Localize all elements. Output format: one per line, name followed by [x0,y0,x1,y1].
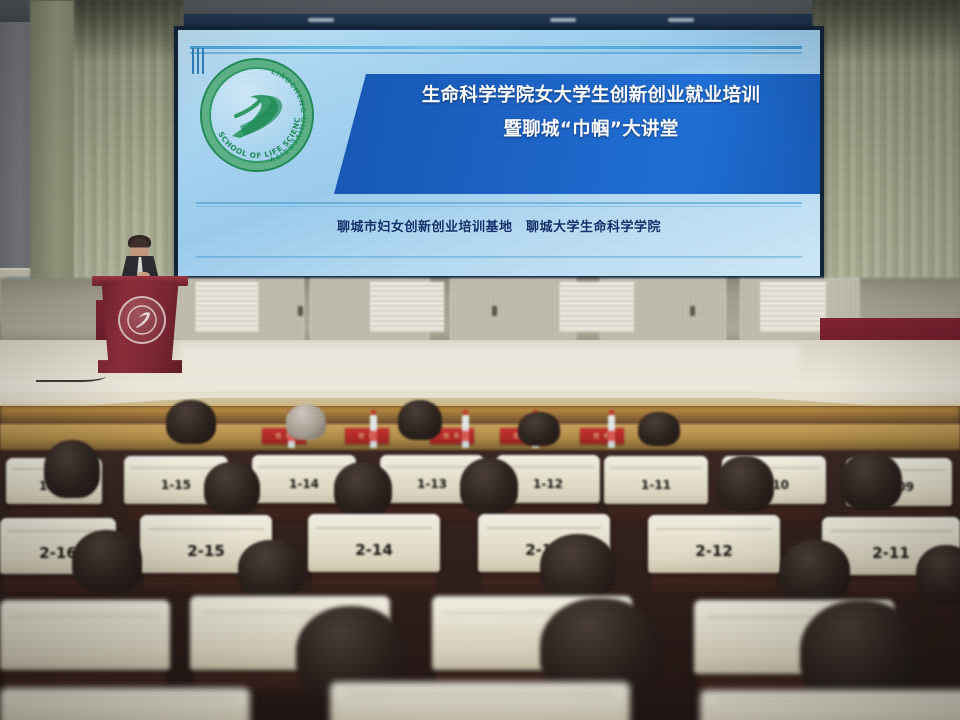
curtain-shadow [812,0,960,62]
wall-knob [492,306,497,316]
bottle-cap [609,410,614,415]
bottle-label [608,431,615,441]
slide-divider [196,202,802,204]
audience-head [780,540,850,602]
slide-divider-2 [196,206,802,207]
wall-vent [560,282,634,332]
podium-university-emblem [118,296,166,344]
audience-head [204,462,260,514]
wall-vent [196,282,258,332]
wall-vent [760,282,826,332]
presentation-slide: SCHOOL OF LIFE SCIENCES LIAOCHENG UNIVER… [178,30,820,276]
name-plate: 姓 名 [345,428,389,444]
slide-subtitle: 聊城市妇女创新创业培训基地 聊城大学生命科学学院 [196,216,802,235]
audience-head [238,540,304,598]
bottle-label [370,431,377,441]
water-bottle [462,415,469,448]
stage-floor-reflection [180,344,800,390]
ceiling-light [668,18,694,22]
audience-head [460,458,518,514]
auditorium-photo: SCHOOL OF LIFE SCIENCES LIAOCHENG UNIVER… [0,0,960,720]
audience-head [286,404,326,440]
seat-number-label: 2-12 [648,542,780,560]
name-plate-text: 姓 名 [345,431,389,440]
floor-cable [36,368,106,382]
ceiling-light [550,18,576,22]
audience-head [166,400,216,444]
podium-emblem-icon [126,304,158,336]
wall-panel [450,278,576,340]
logo-emblem-icon [220,80,294,150]
audience-head [840,452,902,510]
stage-front-lip [0,390,960,398]
audience-head [638,412,680,446]
water-bottle [608,415,615,448]
slide-top-rule [190,46,802,49]
wall-knob [690,306,695,316]
wall-vent [370,282,444,332]
slide-title-line1: 生命科学学院女大学生创新创业就业培训 [356,82,820,111]
audience-head [800,600,920,704]
audience-head [44,440,100,498]
audience-head [916,545,960,603]
slide-top-rule-2 [190,52,802,54]
audience-head [540,534,616,600]
auditorium-seat[interactable]: 2-12 [648,515,780,573]
audience-head [72,530,142,592]
slide-title-line2: 暨聊城“巾帼”大讲堂 [356,116,820,145]
water-bottle [370,415,377,448]
bottle-label [462,431,469,441]
seat-number-label: 2-14 [308,541,440,559]
name-plate-text: 姓 名 [580,431,624,440]
school-of-life-sciences-logo: SCHOOL OF LIFE SCIENCES LIAOCHENG UNIVER… [200,58,314,172]
auditorium-seat[interactable] [0,688,250,720]
wall-knob [298,306,303,316]
slide-bottom-rule [196,256,802,258]
bottle-cap [463,410,468,415]
head-table [0,424,960,450]
auditorium-seat[interactable]: 2-14 [308,514,440,572]
audience-head [398,400,442,440]
audience-head [334,462,392,516]
ceiling-light [308,18,334,22]
name-plate: 姓 名 [580,428,624,444]
seat-number-label: 1-11 [604,478,708,492]
audience-head [716,456,774,512]
auditorium-seat[interactable] [0,600,170,670]
audience-head [518,412,560,446]
auditorium-seat[interactable]: 1-11 [604,456,708,504]
presentation-screen-frame: SCHOOL OF LIFE SCIENCES LIAOCHENG UNIVER… [174,26,824,280]
slide-title-block: 生命科学学院女大学生创新创业就业培训 暨聊城“巾帼”大讲堂 [356,82,820,144]
auditorium-seat[interactable] [700,690,960,720]
auditorium-seat[interactable] [330,682,630,720]
bottle-cap [371,410,376,415]
